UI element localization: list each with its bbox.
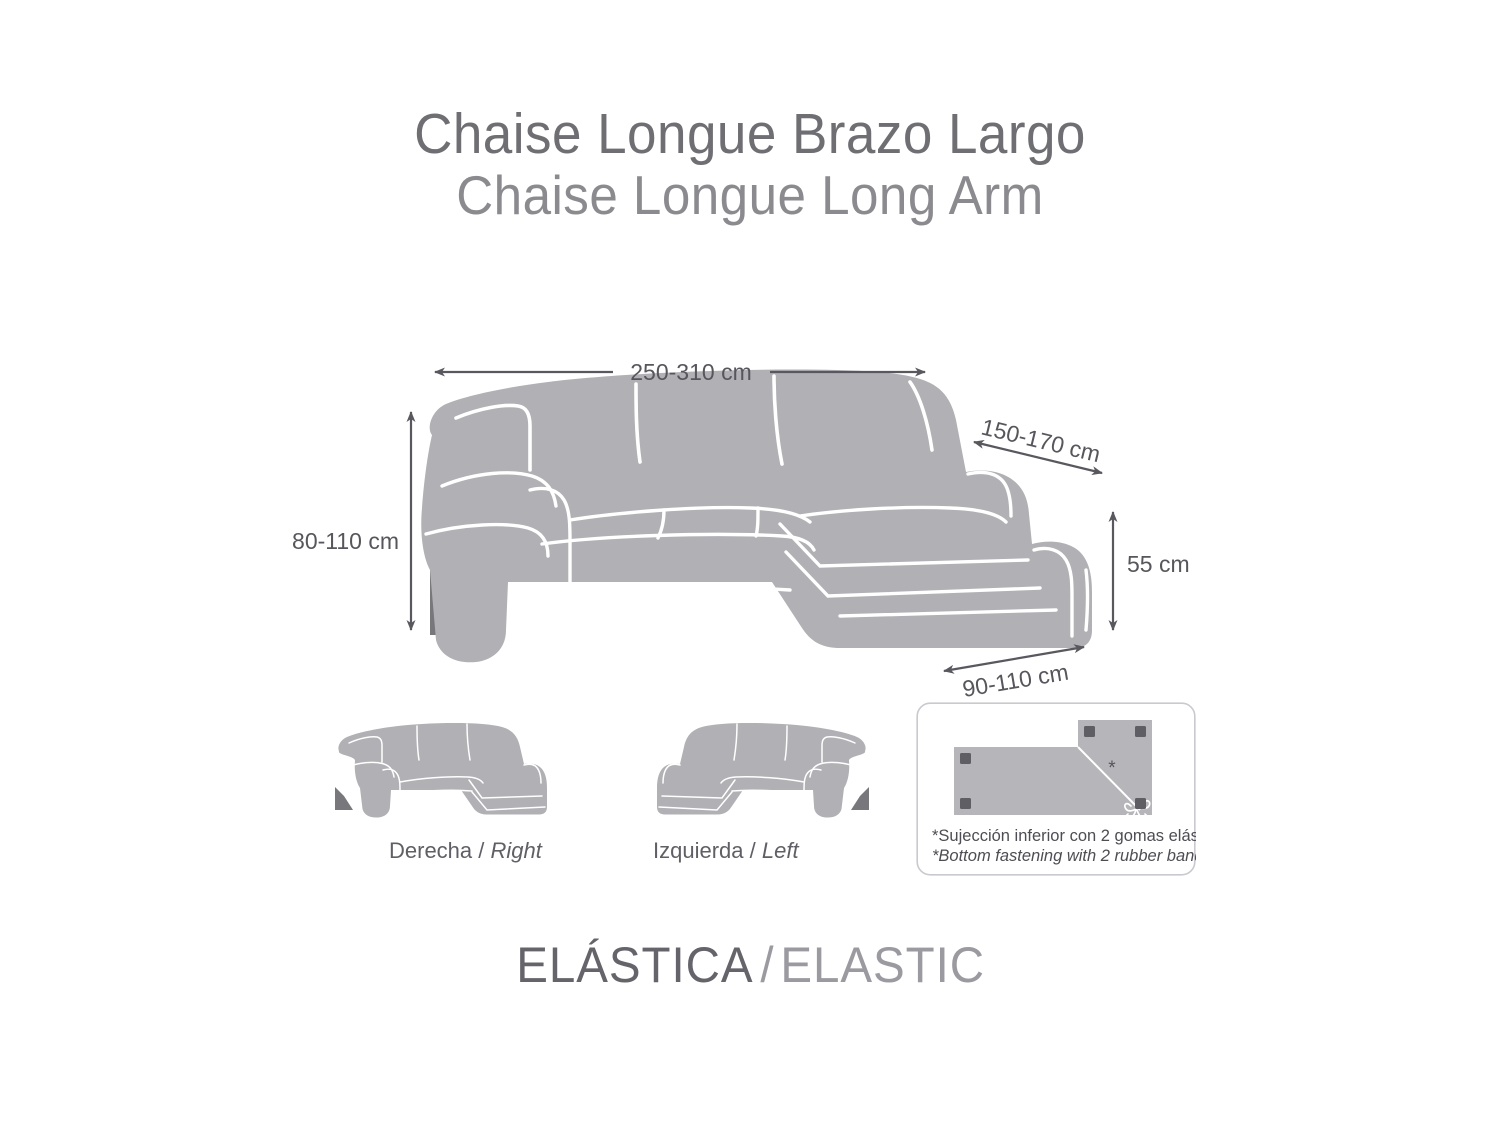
variant-right-label-en: Right (491, 838, 542, 863)
sofa-thumb-left-illustration (657, 723, 869, 818)
info-note-spanish: *Sujección inferior con 2 gomas elástica… (932, 827, 1196, 845)
variant-left-label-en: Left (762, 838, 799, 863)
dimension-seat-height: 55 cm (1113, 512, 1190, 630)
corner-square-tl-upper (1084, 726, 1095, 737)
dim-height-label: 80-110 cm (292, 528, 399, 554)
thumb-right-seam-front (394, 790, 472, 795)
variant-caption-right: Derecha / Right (389, 838, 542, 864)
variant-right-separator: / (478, 838, 484, 863)
corner-square-bl (960, 798, 971, 809)
footer-label-english: ELASTIC (780, 936, 985, 994)
variant-thumbnail-right[interactable] (322, 712, 592, 824)
seam-skirt (520, 587, 790, 598)
info-note-english: *Bottom fastening with 2 rubber bands (932, 847, 1196, 865)
product-spec-sheet: Chaise Longue Brazo Largo Chaise Longue … (0, 0, 1500, 1125)
elastic-asterisk: * (1108, 758, 1116, 779)
corner-square-tr-upper (1135, 726, 1146, 737)
thumb-left-seam-front (732, 790, 810, 795)
title-spanish: Chaise Longue Brazo Largo (53, 104, 1448, 164)
dimension-chaise-bottom: 90-110 cm (944, 647, 1084, 702)
main-sofa-diagram: 250-310 cm 80-110 cm 150-170 cm 55 cm 90… (280, 330, 1220, 710)
corner-square-tl-lower (960, 753, 971, 764)
corner-square-br (1135, 798, 1146, 809)
dim-width-label: 250-310 cm (630, 359, 751, 385)
footer-elastic-label: ELÁSTICA/ELASTIC (0, 936, 1500, 994)
variant-thumbnail-left[interactable] (612, 712, 882, 824)
info-box-rubber-bands: * *Sujección inferior con 2 gomas elásti… (916, 702, 1196, 876)
dim-55-label: 55 cm (1127, 551, 1190, 577)
variant-left-label-es: Izquierda (653, 838, 744, 863)
footer-separator: / (760, 936, 774, 994)
dimension-height: 80-110 cm (292, 412, 411, 630)
sofa-illustration (421, 370, 1092, 663)
page-title: Chaise Longue Brazo Largo Chaise Longue … (0, 104, 1500, 225)
thumb-left-shadow (851, 787, 869, 810)
thumb-right-shadow (335, 787, 353, 810)
variant-right-label-es: Derecha (389, 838, 472, 863)
title-english: Chaise Longue Long Arm (53, 166, 1448, 224)
seam-seat-divider2 (756, 508, 758, 536)
dimension-chaise-depth-top: 150-170 cm (974, 414, 1103, 473)
footer-label-spanish: ELÁSTICA (516, 936, 753, 994)
sofa-thumb-right-illustration (335, 723, 547, 818)
variant-left-separator: / (750, 838, 756, 863)
seam-arm-right-outer (1086, 570, 1088, 630)
variant-caption-left: Izquierda / Left (653, 838, 799, 864)
